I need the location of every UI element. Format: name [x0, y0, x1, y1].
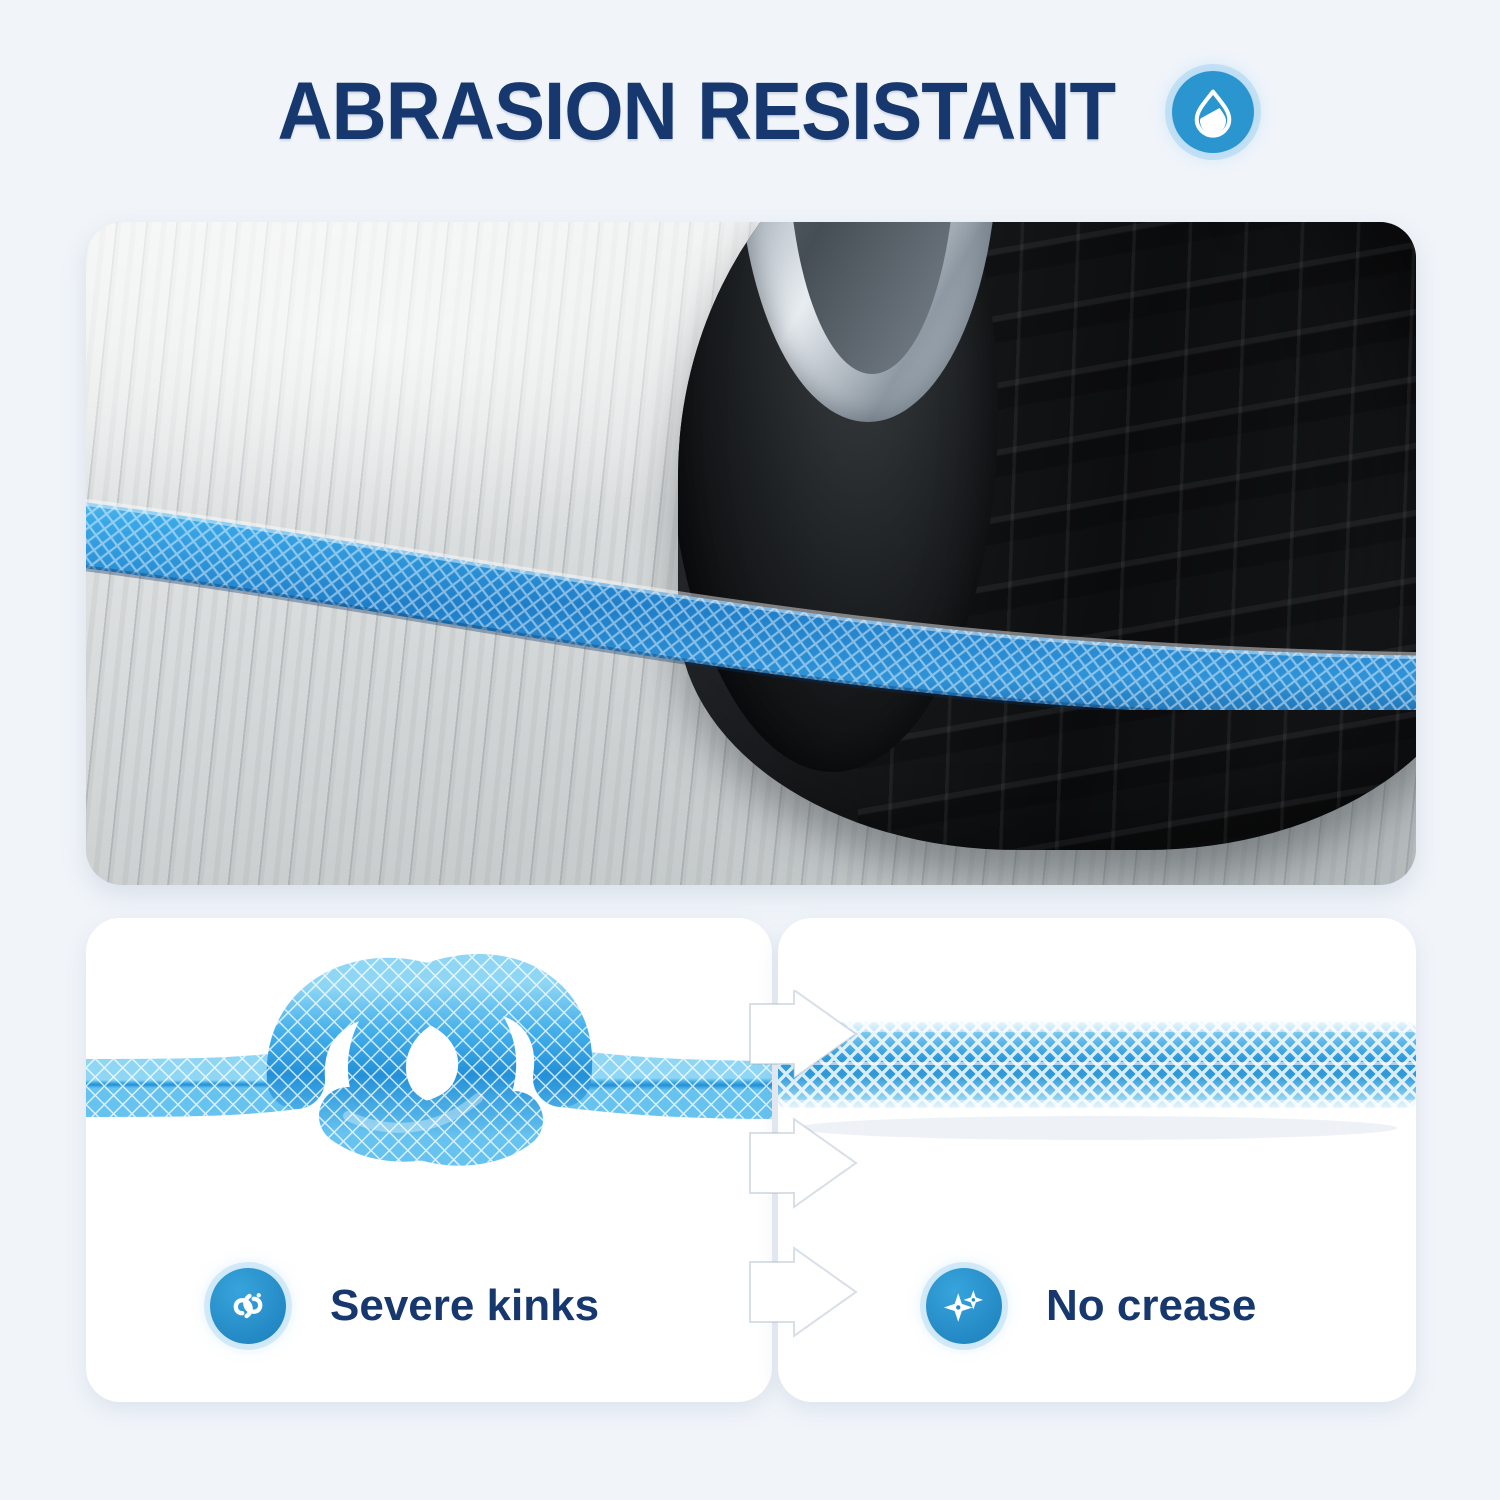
severe-kinks-label-row: Severe kinks: [86, 1268, 772, 1344]
sparkle-icon: [926, 1268, 1002, 1344]
page-header: ABRASION RESISTANT: [0, 62, 1500, 162]
knotted-hose-image: [86, 938, 772, 1178]
comparison-card-no-crease: No crease: [778, 918, 1416, 1402]
severe-kinks-label: Severe kinks: [330, 1284, 599, 1328]
no-crease-label: No crease: [1046, 1284, 1256, 1328]
comparison-card-severe-kinks: Severe kinks: [86, 918, 772, 1402]
water-droplet-shield-icon: [1172, 71, 1254, 153]
page-title: ABRASION RESISTANT: [277, 71, 1115, 153]
hero-photo-panel: Engineered to withstand rough surfaces a…: [86, 222, 1416, 885]
no-crease-label-row: No crease: [778, 1268, 1416, 1344]
straight-hose-image: [778, 994, 1416, 1154]
hose-under-tire: [86, 460, 1416, 710]
knotted-hose-icon: [210, 1268, 286, 1344]
